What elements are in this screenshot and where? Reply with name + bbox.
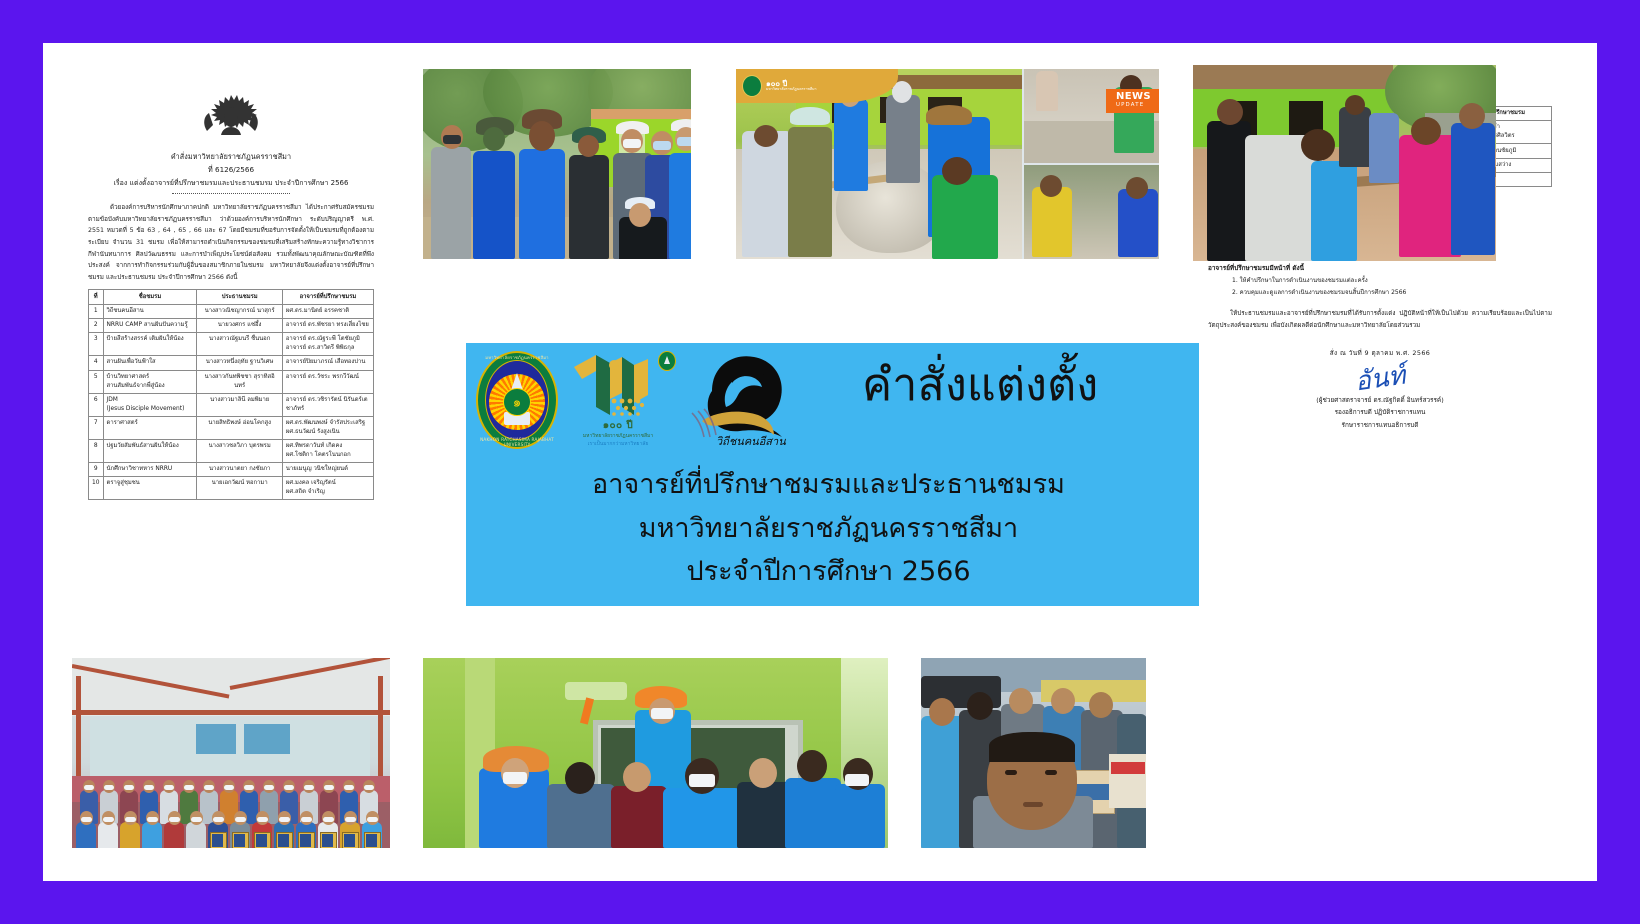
face-mask	[235, 817, 246, 822]
table-cell-pres: นางสาวนาตยา กงชัยภา	[197, 462, 282, 476]
th-club: ชื่อชมรม	[103, 290, 197, 304]
face-mask	[279, 817, 290, 822]
banner-subtitle-block: อาจารย์ที่ปรึกษาชมรมและประธานชมรม มหาวิท…	[466, 463, 1191, 594]
table-row: 9นักศึกษาวิชาทหาร NRRUนางสาวนาตยา กงชัยภ…	[89, 462, 374, 476]
document-page-1: คำสั่งมหาวิทยาลัยราชภัฏนครราชสีมา ที่ 61…	[72, 61, 390, 581]
anniversary-mark-icon	[570, 353, 656, 417]
face-mask	[169, 817, 180, 822]
list-item: 1. ให้คำปรึกษาในการดำเนินงานของชมรมแต่ละ…	[1232, 275, 1552, 287]
table-cell-pres: นางสาวมาลินี ลมพิมาย	[197, 393, 282, 416]
framed-portrait-image	[234, 834, 245, 847]
seal-top-text: มหาวิทยาลัยราชภัฏนครราชสีมา	[476, 354, 558, 361]
person-figure	[120, 822, 140, 848]
doc-heading-2: ที่ 6126/2566	[72, 165, 390, 176]
table-cell-name: บ้านวิทยาศาสตร์สานสัมพันธ์จากพี่สู่น้อง	[103, 370, 197, 393]
person-figure	[98, 822, 118, 848]
table-header-row: ที่ ชื่อชมรม ประธานชมรม อาจารย์ที่ปรึกษา…	[89, 290, 374, 304]
seal-inner-disc	[485, 360, 549, 440]
face-mask	[213, 817, 224, 822]
face-mask	[323, 817, 334, 822]
face-mask	[103, 817, 114, 822]
th-advisor: อาจารย์ที่ปรึกษาชมรม	[282, 290, 373, 304]
table-row: 6JDM(Jesus Disciple Movement)นางสาวมาลิน…	[89, 393, 374, 416]
person-figure	[164, 822, 184, 848]
framed-portrait-image	[322, 834, 333, 847]
photo-painting-volunteers	[423, 658, 888, 848]
advisor-duties-heading: อาจารย์ที่ปรึกษาชมรมมีหน้าที่ ดังนี้	[1208, 263, 1552, 273]
banner-logo-row: มหาวิทยาลัยราชภัฏนครราชสีมา NAKHON RATCH…	[476, 351, 794, 459]
signature-block: อันท์ (ผู้ช่วยศาสตราจารย์ ดร.ณัฐกิตติ์ อ…	[1192, 366, 1568, 431]
table-cell-name: วิถีชนคนอีสาน	[103, 304, 197, 318]
framed-portrait-image	[366, 834, 377, 847]
club-table-page1: ที่ ชื่อชมรม ประธานชมรม อาจารย์ที่ปรึกษา…	[88, 289, 374, 500]
badge-sub: มหาวิทยาลัยราชภัฏนครราชสีมา	[766, 88, 817, 92]
badge-text: ๑๐๐ ปี มหาวิทยาลัยราชภัฏนครราชสีมา	[766, 80, 817, 92]
face-mask	[257, 817, 268, 822]
news-update-badge: NEWS UPDATE	[1106, 89, 1159, 113]
table-row: 7ดาราศาสตร์นายสิทธิพงษ์ อ่อนโคกสูงผศ.ดร.…	[89, 416, 374, 439]
table-row: 4สานฝันเพื่อวันฟ้าใสนางสาวหนึ่งฤทัย ฐานว…	[89, 356, 374, 370]
mini-crest-icon	[658, 351, 676, 371]
table-cell-no: 9	[89, 462, 104, 476]
advisor-duties-list: 1. ให้คำปรึกษาในการดำเนินงานของชมรมแต่ละ…	[1232, 275, 1552, 299]
anniversary-line-1: มหาวิทยาลัยราชภัฏนครราชสีมา	[566, 433, 670, 441]
table-row: 3ป้ายสีสร้างสรรค์ เติมฝันให้น้องนางสาวณั…	[89, 333, 374, 356]
table-cell-no: 8	[89, 439, 104, 462]
news-sub-label: UPDATE	[1116, 103, 1151, 109]
table-row: 8ปฐมวัยสัมพันธ์สานฝันให้น้องนางสาวชลวิภา…	[89, 439, 374, 462]
table-cell-name: ปฐมวัยสัมพันธ์สานฝันให้น้อง	[103, 439, 197, 462]
doc-heading-1: คำสั่งมหาวิทยาลัยราชภัฏนครราชสีมา	[72, 152, 390, 163]
table-cell-name: JDM(Jesus Disciple Movement)	[103, 393, 197, 416]
club-logo: วิถีชนคนอีสาน	[682, 351, 794, 451]
table-row: 1วิถีชนคนอีสานนางสาวณิชญากรณ์ นาสุกร์ผศ.…	[89, 304, 374, 318]
closing-text: ให้ประธานชมรมและอาจารย์ที่ปรึกษาชมรมที่ไ…	[1208, 310, 1552, 329]
table-cell-adv: อาจารย์ปิยมาภรณ์ เสือทองปาน	[282, 356, 373, 370]
table-cell-pres: นายสิทธิพงษ์ อ่อนโคกสูง	[197, 416, 282, 439]
table-cell-pres: นางสาวกันทพิชชา สุราทิสอินทร์	[197, 370, 282, 393]
svg-text:วิถีชนคนอีสาน: วิถีชนคนอีสาน	[716, 435, 786, 448]
banner-title: คำสั่งแต่งตั้ง	[862, 361, 1192, 408]
nrru-seal: มหาวิทยาลัยราชภัฏนครราชสีมา NAKHON RATCH…	[476, 351, 558, 449]
face-mask	[345, 817, 356, 822]
seal-core	[503, 388, 531, 416]
anniversary-line-2: เราเป็นมากกว่ามหาวิทยาลัย	[566, 441, 670, 449]
badge-seal-icon	[742, 75, 762, 97]
garuda-emblem-icon	[72, 93, 390, 146]
photo-group-thumbs-up	[423, 69, 691, 259]
seal-bottom-text: NAKHON RATCHASIMA RAJABHAT UNIVERSITY	[476, 437, 558, 447]
table-cell-adv: ผศ.ดร.พัฒนพงษ์ จำรัสประเสริฐผศ.ธนวัฒน์ ร…	[282, 416, 373, 439]
signer-role-2: รักษาราชการแทนอธิการบดี	[1192, 419, 1568, 431]
framed-portrait-image	[278, 834, 289, 847]
signer-name: (ผู้ช่วยศาสตราจารย์ ดร.ณัฐกิตติ์ อินทร์ส…	[1192, 394, 1568, 406]
banner-line-2: มหาวิทยาลัยราชภัฏนครราชสีมา	[466, 507, 1191, 551]
photo-concrete-work-villagers	[1193, 65, 1496, 261]
person-figure	[76, 822, 96, 848]
collage-canvas: คำสั่งมหาวิทยาลัยราชภัฏนครราชสีมา ที่ 61…	[43, 43, 1597, 881]
person-figure	[186, 822, 206, 848]
framed-portrait-image	[212, 834, 223, 847]
table-cell-adv: อาจารย์ ดร.วัชระ พรกวีวัฒน์	[282, 370, 373, 393]
table-cell-pres: นายเอกวัฒน์ หอกามา	[197, 477, 282, 500]
anniversary-logo: ๑๐๐ ปี มหาวิทยาลัยราชภัฏนครราชสีมา เราเป…	[566, 351, 674, 459]
person-figure	[142, 822, 162, 848]
table-row: 2NRRU CAMP สานฝันปันความรู้นายวงศกร แซ่อ…	[89, 318, 374, 332]
table-cell-no: 3	[89, 333, 104, 356]
table-cell-pres: นางสาวณัฐมนรี ชื่นนอก	[197, 333, 282, 356]
photo-selfie-donation	[921, 658, 1146, 848]
face-mask	[191, 817, 202, 822]
table-cell-no: 4	[89, 356, 104, 370]
table-cell-adv: ผศ.ดร.มานิตย์ อรรคชาติ	[282, 304, 373, 318]
photo-concrete-mixing: ๑๐๐ ปี มหาวิทยาลัยราชภัฏนครราชสีมา NEWS …	[736, 69, 1159, 259]
photo-hall-back-row	[72, 766, 390, 806]
table-cell-name: สานฝันเพื่อวันฟ้าใส	[103, 356, 197, 370]
framed-portrait-image	[344, 834, 355, 847]
table-cell-adv: อาจารย์ ดร.พัชรยา ทรงเสี่ยงไชย	[282, 318, 373, 332]
anniversary-years: ๑๐๐ ปี	[603, 420, 633, 431]
face-mask	[367, 817, 378, 822]
anniversary-photo-badge: ๑๐๐ ปี มหาวิทยาลัยราชภัฏนครราชสีมา	[736, 69, 898, 103]
table-cell-no: 2	[89, 318, 104, 332]
table-cell-pres: นายวงศกร แซ่อึ้ง	[197, 318, 282, 332]
news-label: NEWS	[1116, 91, 1151, 102]
table-cell-adv: ผศ.ทิพรดาวันท์ เกิดคงผศ.โชติกา โคตรโนนกอ…	[282, 439, 373, 462]
banner-line-1: อาจารย์ที่ปรึกษาชมรมและประธานชมรม	[466, 463, 1191, 507]
doc-divider	[172, 193, 290, 194]
table-cell-adv: นายเมนูญ วนิชใหญ่ยนต์	[282, 462, 373, 476]
closing-paragraph: ให้ประธานชมรมและอาจารย์ที่ปรึกษาชมรมที่ไ…	[1208, 308, 1552, 332]
framed-portrait-image	[300, 834, 311, 847]
doc-body-paragraph: ด้วยองค์การบริหารนักศึกษาภาคปกติ มหาวิทย…	[88, 202, 374, 283]
announcement-banner: มหาวิทยาลัยราชภัฏนครราชสีมา NAKHON RATCH…	[466, 343, 1199, 606]
th-no: ที่	[89, 290, 104, 304]
signer-role-1: รองอธิการบดี ปฏิบัติราชการแทน	[1192, 406, 1568, 418]
table-cell-adv: อาจารย์ ดร.วชิรารัตน์ นิรันดร์เตชาภัทร์	[282, 393, 373, 416]
dateline: สั่ง ณ วันที่ 9 ตุลาคม พ.ศ. 2566	[1192, 348, 1568, 358]
table-cell-no: 7	[89, 416, 104, 439]
table-cell-pres: นางสาวหนึ่งฤทัย ฐานวิเศษ	[197, 356, 282, 370]
table-cell-pres: นางสาวชลวิภา บุตรพรม	[197, 439, 282, 462]
framed-portrait-image	[256, 834, 267, 847]
th-president: ประธานชมรม	[197, 290, 282, 304]
doc-heading-3: เรื่อง แต่งตั้งอาจารย์ที่ปรึกษาชมรมและปร…	[72, 178, 390, 189]
table-cell-name: NRRU CAMP สานฝันปันความรู้	[103, 318, 197, 332]
table-body-left: 1วิถีชนคนอีสานนางสาวณิชญากรณ์ นาสุกร์ผศ.…	[89, 304, 374, 500]
table-row: 10ตราจูสู่ชุมชนนายเอกวัฒน์ หอกามาผศ.มงคล…	[89, 477, 374, 500]
photo-community-hall-group	[72, 658, 390, 848]
anniversary-caption: ๑๐๐ ปี มหาวิทยาลัยราชภัฏนครราชสีมา เราเป…	[566, 413, 670, 448]
table-cell-adv: ผศ.มงคล เจริญรัตน์ผศ.สถิต จำเริญ	[282, 477, 373, 500]
doc-body-text: ด้วยองค์การบริหารนักศึกษาภาคปกติ มหาวิทย…	[88, 204, 374, 281]
face-mask	[125, 817, 136, 822]
table-cell-name: ป้ายสีสร้างสรรค์ เติมฝันให้น้อง	[103, 333, 197, 356]
list-item: 2. ควบคุมและดูแลการดำเนินงานของชมรมจนสิ้…	[1232, 287, 1552, 299]
signature-mark: อันท์	[1353, 363, 1407, 396]
table-cell-no: 1	[89, 304, 104, 318]
table-cell-adv: อาจารย์ ดร.ณัฐระพี โตชัยภูมิอาจารย์ ดร.ส…	[282, 333, 373, 356]
table-cell-no: 10	[89, 477, 104, 500]
face-mask	[147, 817, 158, 822]
face-mask	[301, 817, 312, 822]
table-cell-pres: นางสาวณิชญากรณ์ นาสุกร์	[197, 304, 282, 318]
table-cell-name: ตราจูสู่ชุมชน	[103, 477, 197, 500]
table-cell-name: ดาราศาสตร์	[103, 416, 197, 439]
banner-line-3: ประจำปีการศึกษา 2566	[466, 550, 1191, 594]
face-mask	[81, 817, 92, 822]
table-cell-no: 5	[89, 370, 104, 393]
table-cell-no: 6	[89, 393, 104, 416]
table-cell-name: นักศึกษาวิชาทหาร NRRU	[103, 462, 197, 476]
table-row: 5บ้านวิทยาศาสตร์สานสัมพันธ์จากพี่สู่น้อง…	[89, 370, 374, 393]
